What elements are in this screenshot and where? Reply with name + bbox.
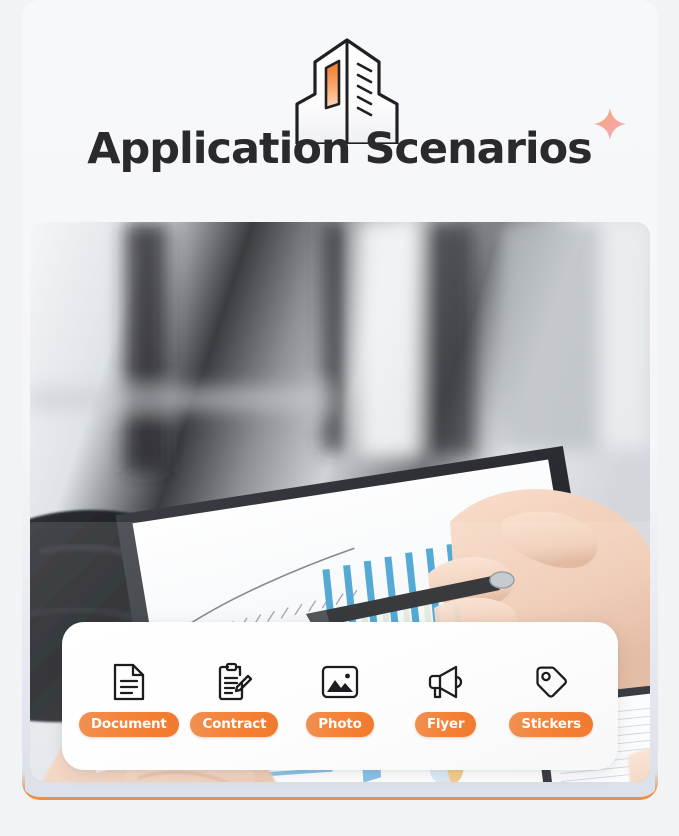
image-photo-icon bbox=[319, 661, 361, 703]
sparkle-icon bbox=[592, 106, 628, 142]
category-item-flyer[interactable]: Flyer bbox=[394, 655, 498, 737]
category-label-photo[interactable]: Photo bbox=[306, 712, 374, 737]
category-bar: Document Contract bbox=[62, 622, 618, 770]
category-item-document[interactable]: Document bbox=[77, 655, 181, 737]
contract-clipboard-pen-icon bbox=[213, 661, 255, 703]
bottom-border-left-accent bbox=[22, 771, 25, 797]
category-label-stickers[interactable]: Stickers bbox=[509, 712, 593, 737]
document-icon bbox=[108, 661, 150, 703]
bottom-border-right-accent bbox=[655, 771, 658, 797]
category-label-document[interactable]: Document bbox=[79, 712, 179, 737]
price-tag-icon bbox=[530, 661, 572, 703]
category-item-stickers[interactable]: Stickers bbox=[499, 655, 603, 737]
category-label-contract[interactable]: Contract bbox=[190, 712, 278, 737]
category-item-photo[interactable]: Photo bbox=[288, 655, 392, 737]
megaphone-icon bbox=[425, 661, 467, 703]
category-label-flyer[interactable]: Flyer bbox=[415, 712, 476, 737]
title-row: Application Scenarios bbox=[0, 128, 679, 171]
header: Application Scenarios bbox=[0, 0, 679, 210]
category-item-contract[interactable]: Contract bbox=[182, 655, 286, 737]
page-title: Application Scenarios bbox=[87, 124, 592, 174]
